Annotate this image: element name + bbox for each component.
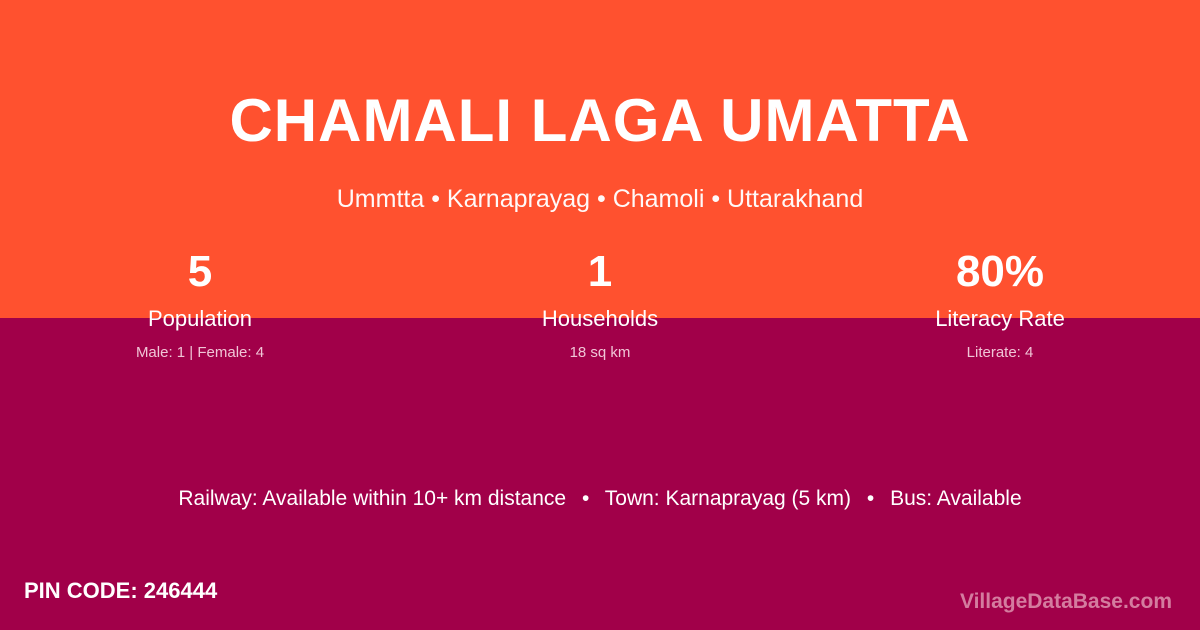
amenity-separator: • [857,487,884,510]
pin-code: PIN CODE: 246444 [24,576,217,606]
amenity-bus: Bus: Available [890,487,1022,510]
stat-label: Households [400,304,800,334]
breadcrumb: Ummtta • Karnaprayag • Chamoli • Uttarak… [0,183,1200,215]
amenity-town: Town: Karnaprayag (5 km) [605,487,851,510]
brand-watermark: VillageDataBase.com [960,588,1172,616]
stat-value: 5 [0,246,400,298]
amenities-line: Railway: Available within 10+ km distanc… [0,483,1200,515]
stat-value: 1 [400,246,800,298]
amenity-separator: • [572,487,599,510]
village-info-card: CHAMALI LAGA UMATTA Ummtta • Karnaprayag… [0,0,1200,630]
stat-sublabel: Male: 1 | Female: 4 [0,342,400,364]
stat-households: 1 Households 18 sq km [400,246,800,364]
stat-label: Population [0,304,400,334]
amenity-railway: Railway: Available within 10+ km distanc… [178,487,566,510]
page-title: CHAMALI LAGA UMATTA [0,84,1200,158]
stat-population: 5 Population Male: 1 | Female: 4 [0,246,400,364]
stat-literacy-rate: 80% Literacy Rate Literate: 4 [800,246,1200,364]
stat-sublabel: 18 sq km [400,342,800,364]
stat-label: Literacy Rate [800,304,1200,334]
stat-sublabel: Literate: 4 [800,342,1200,364]
stats-row: 5 Population Male: 1 | Female: 4 1 House… [0,246,1200,364]
stat-value: 80% [800,246,1200,298]
